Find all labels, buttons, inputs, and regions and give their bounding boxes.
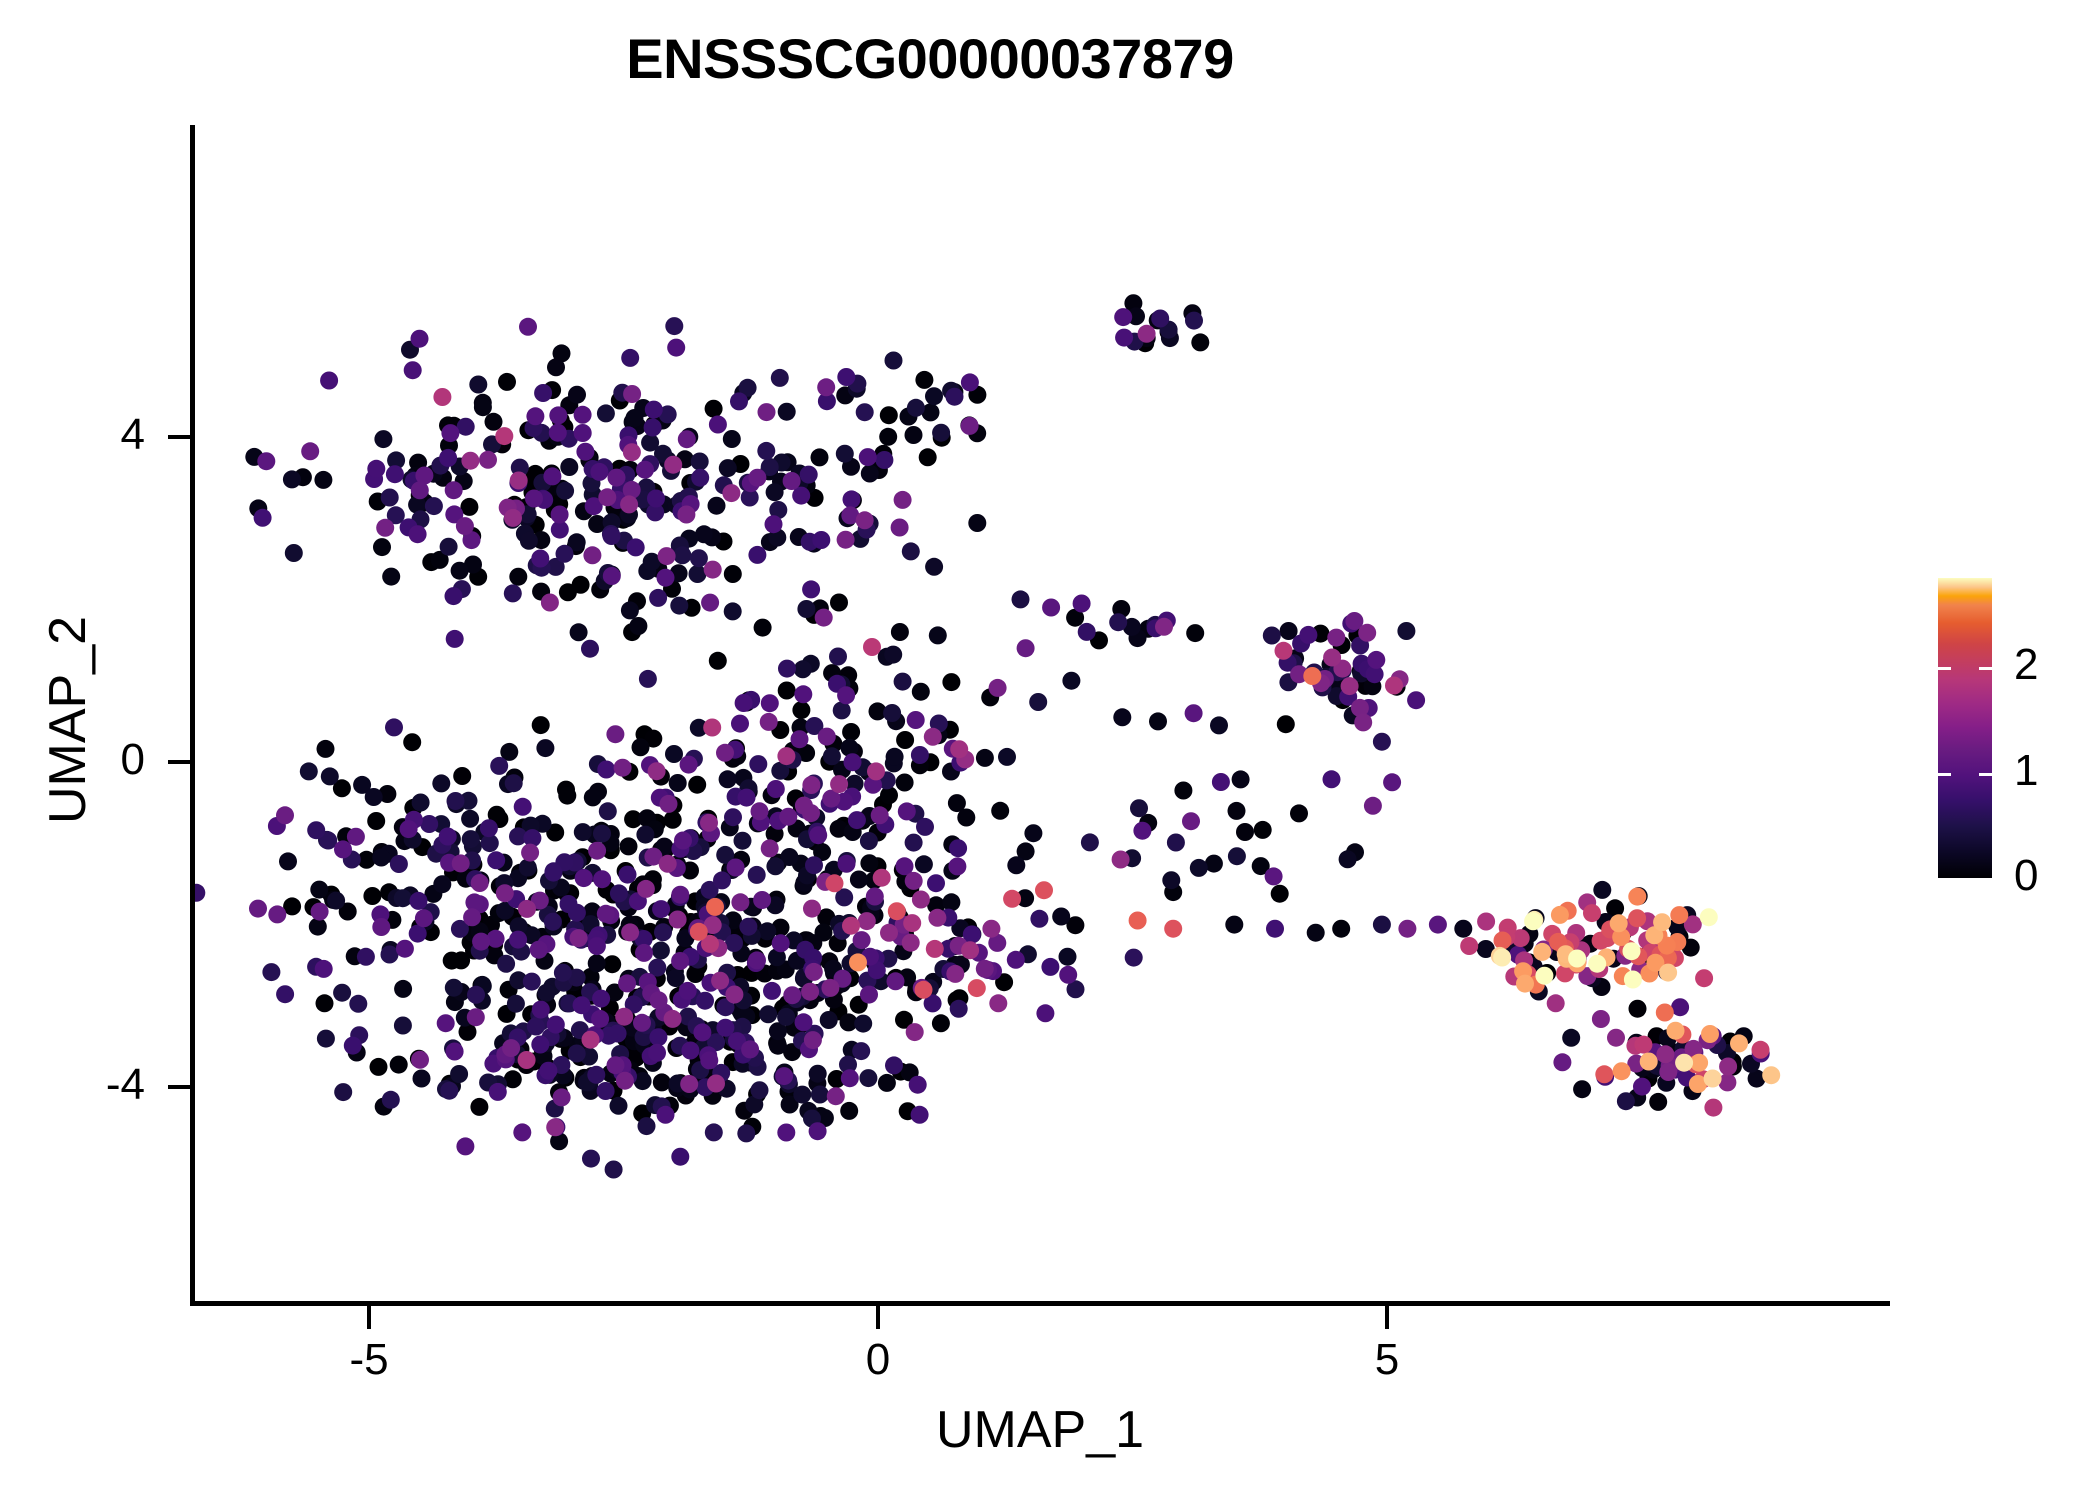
scatter-point	[592, 990, 610, 1008]
scatter-point	[404, 361, 422, 379]
scatter-point	[795, 1013, 813, 1031]
scatter-point	[525, 490, 543, 508]
scatter-point	[440, 538, 458, 556]
scatter-point	[723, 430, 741, 448]
scatter-point	[1588, 955, 1606, 973]
y-tick-mark	[168, 1085, 191, 1089]
scatter-point	[1656, 1045, 1674, 1063]
scatter-point	[472, 933, 490, 951]
scatter-point	[518, 900, 536, 918]
scatter-point	[880, 406, 898, 424]
scatter-point	[1081, 833, 1099, 851]
scatter-point	[766, 483, 784, 501]
scatter-point	[792, 701, 810, 719]
scatter-point	[856, 511, 874, 529]
scatter-point	[636, 461, 654, 479]
scatter-point	[1012, 590, 1030, 608]
scatter-point	[301, 442, 319, 460]
scatter-point	[730, 392, 748, 410]
scatter-point	[777, 1124, 795, 1142]
scatter-point	[859, 448, 877, 466]
scatter-point	[1624, 971, 1642, 989]
scatter-point	[620, 837, 638, 855]
scatter-point	[896, 731, 914, 749]
scatter-point	[1568, 950, 1586, 968]
scatter-point	[722, 484, 740, 502]
scatter-point	[357, 948, 375, 966]
scatter-point	[905, 426, 923, 444]
scatter-point	[372, 918, 390, 936]
scatter-point	[645, 401, 663, 419]
scatter-point	[582, 1031, 600, 1049]
scatter-point	[794, 685, 812, 703]
scatter-point	[1656, 1004, 1674, 1022]
scatter-point	[691, 453, 709, 471]
scatter-point	[1593, 881, 1611, 899]
scatter-point	[929, 626, 947, 644]
scatter-point	[961, 373, 979, 391]
scatter-point	[950, 1000, 968, 1018]
scatter-point	[738, 789, 756, 807]
scatter-point	[727, 859, 745, 877]
scatter-point	[704, 561, 722, 579]
scatter-point	[1059, 966, 1077, 984]
scatter-point	[748, 866, 766, 884]
scatter-point	[909, 1076, 927, 1094]
scatter-point	[648, 762, 666, 780]
scatter-point	[321, 767, 339, 785]
scatter-point	[610, 1097, 628, 1115]
scatter-point	[658, 547, 676, 565]
scatter-point	[510, 472, 528, 490]
scatter-point	[719, 770, 737, 788]
scatter-point	[320, 372, 338, 390]
scatter-point	[547, 358, 565, 376]
scatter-point	[950, 740, 968, 758]
scatter-point	[748, 469, 766, 487]
scatter-point	[878, 1074, 896, 1092]
scatter-point	[650, 991, 668, 1009]
scatter-point	[1225, 916, 1243, 934]
scatter-point	[1547, 994, 1565, 1012]
scatter-point	[911, 1106, 929, 1124]
scatter-point	[311, 903, 329, 921]
scatter-point	[489, 1083, 507, 1101]
scatter-point	[544, 864, 562, 882]
scatter-point	[891, 623, 909, 641]
scatter-point	[942, 673, 960, 691]
scatter-point	[1634, 1036, 1652, 1054]
scatter-point	[1030, 910, 1048, 928]
scatter-point	[605, 1161, 623, 1179]
scatter-point	[597, 1082, 615, 1100]
scatter-point	[599, 802, 617, 820]
x-axis-line	[190, 1301, 1890, 1306]
scatter-point	[850, 871, 868, 889]
scatter-point	[771, 369, 789, 387]
scatter-point	[659, 855, 677, 873]
scatter-point	[372, 849, 390, 867]
scatter-point	[1675, 1054, 1693, 1072]
scatter-point	[998, 748, 1016, 766]
scatter-point	[495, 427, 513, 445]
scatter-point	[657, 569, 675, 587]
scatter-point	[1629, 1000, 1647, 1018]
scatter-point	[446, 1043, 464, 1061]
scatter-point	[347, 828, 365, 846]
scatter-point	[603, 567, 621, 585]
scatter-point	[334, 840, 352, 858]
scatter-point	[1232, 770, 1250, 788]
scatter-point	[457, 418, 475, 436]
scatter-point	[636, 826, 654, 844]
chart-canvas: ENSSSCG00000037879 40-4 -505 UMAP_1 UMAP…	[0, 0, 2100, 1500]
scatter-point	[381, 489, 399, 507]
scatter-point	[518, 1051, 536, 1069]
scatter-point	[526, 407, 544, 425]
scatter-point	[664, 456, 682, 474]
scatter-point	[946, 388, 964, 406]
scatter-point	[731, 715, 749, 733]
scatter-point	[1151, 310, 1169, 328]
scatter-point	[440, 1082, 458, 1100]
scatter-point	[674, 832, 692, 850]
scatter-point	[1553, 1053, 1571, 1071]
colorbar-tick-label: 1	[2014, 749, 2038, 793]
scatter-point	[588, 842, 606, 860]
scatter-point	[635, 944, 653, 962]
page-title: ENSSSCG00000037879	[0, 26, 1860, 91]
scatter-point	[415, 909, 433, 927]
scatter-point	[367, 460, 385, 478]
scatter-point	[1149, 712, 1167, 730]
scatter-point	[1277, 715, 1295, 733]
scatter-point	[549, 406, 567, 424]
scatter-point	[1373, 916, 1391, 934]
scatter-point	[349, 995, 367, 1013]
scatter-point	[1494, 932, 1512, 950]
colorbar-tick-mark	[1938, 667, 1951, 670]
scatter-point	[279, 852, 297, 870]
scatter-point	[703, 719, 721, 737]
scatter-point	[802, 580, 820, 598]
scatter-point	[574, 823, 592, 841]
scatter-point	[968, 979, 986, 997]
scatter-point	[794, 660, 812, 678]
scatter-point	[838, 855, 856, 873]
scatter-point	[871, 806, 889, 824]
scatter-point	[441, 424, 459, 442]
scatter-point	[1583, 904, 1601, 922]
scatter-point	[879, 428, 897, 446]
scatter-point	[1129, 912, 1147, 930]
scatter-point	[1695, 969, 1713, 987]
x-tick-mark	[876, 1306, 880, 1329]
scatter-point	[365, 788, 383, 806]
scatter-point	[374, 430, 392, 448]
scatter-point	[409, 925, 427, 943]
scatter-point	[1210, 716, 1228, 734]
scatter-point	[783, 472, 801, 490]
scatter-point	[925, 558, 943, 576]
scatter-point	[1182, 812, 1200, 830]
scatter-point	[603, 527, 621, 545]
scatter-point	[701, 594, 719, 612]
scatter-point	[763, 982, 781, 1000]
scatter-point	[1704, 1070, 1722, 1088]
scatter-point	[707, 1075, 725, 1093]
scatter-point	[1701, 1025, 1719, 1043]
scatter-point	[849, 953, 867, 971]
scatter-point	[1477, 913, 1495, 931]
scatter-point	[1358, 624, 1376, 642]
scatter-point	[842, 917, 860, 935]
scatter-point	[568, 1045, 586, 1063]
scatter-point	[310, 881, 328, 899]
scatter-point	[1155, 618, 1173, 636]
scatter-point	[898, 802, 916, 820]
scatter-point	[946, 965, 964, 983]
scatter-point	[907, 711, 925, 729]
scatter-point	[716, 744, 734, 762]
scatter-point	[394, 980, 412, 998]
scatter-point	[1042, 599, 1060, 617]
scatter-point	[1454, 920, 1472, 938]
scatter-point	[837, 686, 855, 704]
scatter-point	[778, 403, 796, 421]
scatter-point	[848, 811, 866, 829]
scatter-point	[873, 869, 891, 887]
scatter-point	[400, 820, 418, 838]
scatter-point	[276, 985, 294, 1003]
scatter-point	[573, 996, 591, 1014]
scatter-point	[802, 776, 820, 794]
scatter-point	[915, 981, 933, 999]
scatter-point	[760, 713, 778, 731]
scatter-point	[608, 469, 626, 487]
scatter-points	[195, 125, 1890, 1301]
scatter-point	[532, 1001, 550, 1019]
colorbar-tick-mark	[1938, 878, 1951, 881]
scatter-point	[948, 857, 966, 875]
scatter-point	[693, 1023, 711, 1041]
scatter-point	[772, 934, 790, 952]
scatter-point	[902, 934, 920, 952]
scatter-point	[619, 866, 637, 884]
scatter-point	[536, 739, 554, 757]
scatter-point	[581, 640, 599, 658]
scatter-point	[1299, 626, 1317, 644]
scatter-point	[553, 1088, 571, 1106]
scatter-point	[314, 471, 332, 489]
scatter-point	[1704, 1099, 1722, 1117]
scatter-point	[896, 774, 914, 792]
scatter-point	[1130, 799, 1148, 817]
scatter-point	[1354, 713, 1372, 731]
scatter-point	[411, 330, 429, 348]
x-tick-label: -5	[309, 1338, 429, 1382]
scatter-point	[497, 955, 515, 973]
scatter-point	[549, 424, 567, 442]
scatter-point	[711, 972, 729, 990]
scatter-point	[390, 855, 408, 873]
scatter-point	[509, 568, 527, 586]
scatter-point	[469, 376, 487, 394]
scatter-point	[1667, 1022, 1685, 1040]
scatter-point	[853, 931, 871, 949]
scatter-point	[688, 776, 706, 794]
scatter-point	[300, 762, 318, 780]
scatter-point	[907, 399, 925, 417]
scatter-point	[713, 871, 731, 889]
scatter-point	[551, 506, 569, 524]
scatter-point	[446, 630, 464, 648]
scatter-point	[487, 851, 505, 869]
scatter-point	[470, 1098, 488, 1116]
scatter-point	[1762, 1066, 1780, 1084]
scatter-point	[705, 400, 723, 418]
scatter-point	[903, 914, 921, 932]
scatter-point	[1332, 920, 1350, 938]
scatter-point	[837, 368, 855, 386]
scatter-point	[875, 451, 893, 469]
scatter-point	[665, 745, 683, 763]
scatter-point	[809, 1065, 827, 1083]
scatter-point	[1236, 823, 1254, 841]
scatter-point	[880, 924, 898, 942]
x-tick-label: 5	[1327, 1338, 1447, 1382]
scatter-point	[842, 723, 860, 741]
scatter-point	[1114, 308, 1132, 326]
colorbar-tick-mark	[1979, 667, 1992, 670]
y-tick-mark	[168, 760, 191, 764]
colorbar-gradient	[1938, 578, 1992, 878]
scatter-point	[570, 623, 588, 641]
scatter-point	[572, 576, 590, 594]
scatter-point	[916, 818, 934, 836]
scatter-point	[797, 600, 815, 618]
scatter-point	[827, 1087, 845, 1105]
scatter-point	[1730, 1034, 1748, 1052]
scatter-point	[616, 1072, 634, 1090]
scatter-point	[657, 1106, 675, 1124]
colorbar-tick-mark	[1938, 773, 1951, 776]
y-tick-mark	[168, 435, 191, 439]
scatter-point	[925, 387, 943, 405]
y-tick-label: -4	[106, 1063, 145, 1107]
scatter-point	[1327, 629, 1345, 647]
scatter-point	[705, 1123, 723, 1141]
scatter-point	[919, 448, 937, 466]
scatter-point	[805, 963, 823, 981]
scatter-point	[1007, 856, 1025, 874]
scatter-point	[439, 449, 457, 467]
scatter-point	[574, 406, 592, 424]
scatter-point	[456, 1137, 474, 1155]
scatter-point	[1493, 949, 1511, 967]
scatter-point	[724, 565, 742, 583]
scatter-point	[815, 609, 833, 627]
scatter-point	[660, 795, 678, 813]
scatter-point	[496, 884, 514, 902]
scatter-point	[648, 1044, 666, 1062]
scatter-point	[554, 964, 572, 982]
scatter-point	[532, 716, 550, 734]
scatter-point	[1595, 1065, 1613, 1083]
scatter-point	[461, 452, 479, 470]
scatter-point	[1633, 1078, 1651, 1096]
scatter-point	[1041, 958, 1059, 976]
scatter-point	[1078, 623, 1096, 641]
scatter-point	[709, 416, 727, 434]
scatter-point	[783, 986, 801, 1004]
scatter-point	[257, 452, 275, 470]
scatter-point	[575, 869, 593, 887]
scatter-point	[649, 589, 667, 607]
scatter-point	[626, 409, 644, 427]
scatter-point	[411, 481, 429, 499]
scatter-point	[543, 467, 561, 485]
scatter-point	[603, 955, 621, 973]
scatter-point	[906, 1023, 924, 1041]
scatter-point	[1659, 964, 1677, 982]
scatter-point	[1109, 613, 1127, 631]
scatter-point	[1186, 624, 1204, 642]
scatter-point	[830, 775, 848, 793]
scatter-point	[759, 1005, 777, 1023]
scatter-point	[1254, 821, 1272, 839]
scatter-point	[1671, 998, 1689, 1016]
scatter-point	[593, 870, 611, 888]
scatter-point	[888, 902, 906, 920]
scatter-point	[837, 531, 855, 549]
scatter-point	[390, 1056, 408, 1074]
scatter-point	[1429, 916, 1447, 934]
scatter-point	[621, 349, 639, 367]
scatter-point	[725, 934, 743, 952]
scatter-point	[639, 670, 657, 688]
scatter-point	[852, 1042, 870, 1060]
scatter-point	[1133, 822, 1151, 840]
scatter-point	[968, 514, 986, 532]
scatter-point	[681, 1042, 699, 1060]
scatter-point	[735, 694, 753, 712]
scatter-point	[254, 509, 272, 527]
scatter-point	[262, 963, 280, 981]
scatter-point	[777, 747, 795, 765]
scatter-point	[610, 884, 628, 902]
scatter-point	[1398, 920, 1416, 938]
scatter-point	[409, 525, 427, 543]
scatter-point	[817, 378, 835, 396]
scatter-point	[757, 442, 775, 460]
scatter-point	[957, 809, 975, 827]
scatter-point	[690, 549, 708, 567]
scatter-point	[749, 755, 767, 773]
scatter-point	[976, 960, 994, 978]
scatter-point	[860, 854, 878, 872]
scatter-point	[911, 746, 929, 764]
scatter-point	[778, 660, 796, 678]
scatter-point	[1007, 951, 1025, 969]
scatter-point	[779, 808, 797, 826]
scatter-point	[618, 974, 636, 992]
scatter-point	[724, 602, 742, 620]
scatter-point	[644, 419, 662, 437]
scatter-point	[1617, 1092, 1635, 1110]
scatter-point	[560, 895, 578, 913]
scatter-point	[195, 884, 205, 902]
